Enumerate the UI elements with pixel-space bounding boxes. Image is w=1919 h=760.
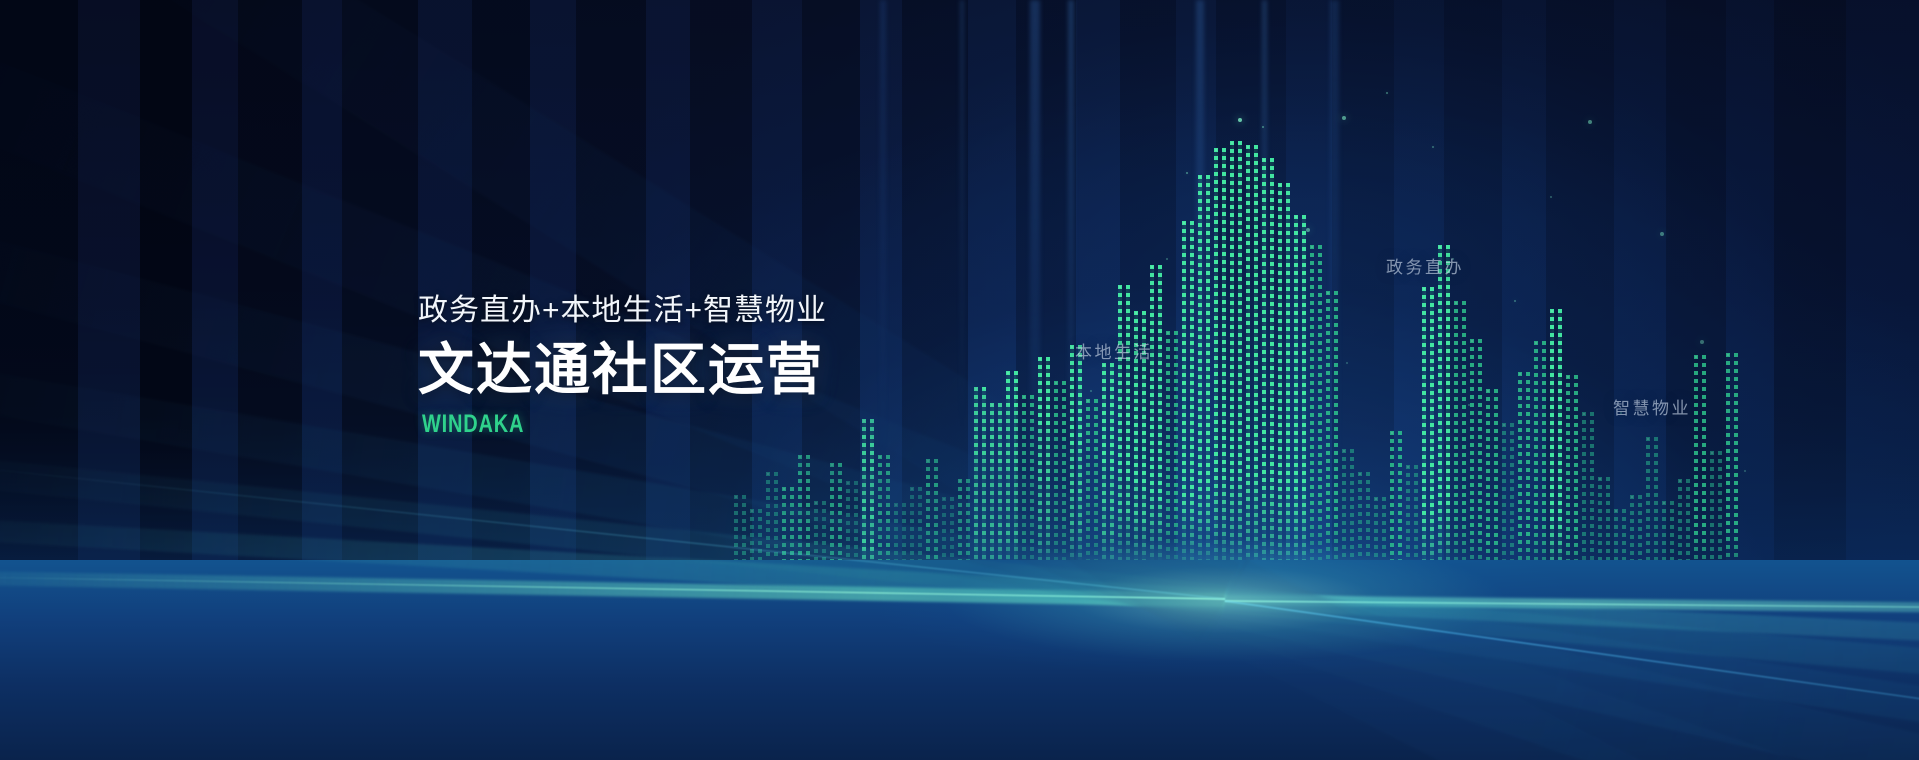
hero-headline: 文达通社区运营 [418,342,827,398]
skyline-bar [1262,158,1275,600]
brand-wordmark: WINDAKA [422,412,746,437]
city-label-0: 政务直办 [1386,253,1464,278]
city-label-1: 本地生活 [1075,338,1153,363]
hero-subtitle: 政务直办+本地生活+智慧物业 [418,296,827,326]
hero-copy: 政务直办+本地生活+智慧物业 文达通社区运营 WINDAKA [418,296,827,437]
vanishing-point-glow [795,540,1655,730]
perspective-floor [0,560,1919,760]
hero-banner: 政务直办本地生活智慧物业 政务直办+本地生活+智慧物业 文达通社区运营 WIND… [0,0,1919,760]
skyline-bar [1214,148,1227,600]
skyline-bar [1230,141,1243,600]
city-label-2: 智慧物业 [1613,394,1691,419]
skyline-bar [1246,145,1259,600]
skyline-bar [1278,183,1291,600]
